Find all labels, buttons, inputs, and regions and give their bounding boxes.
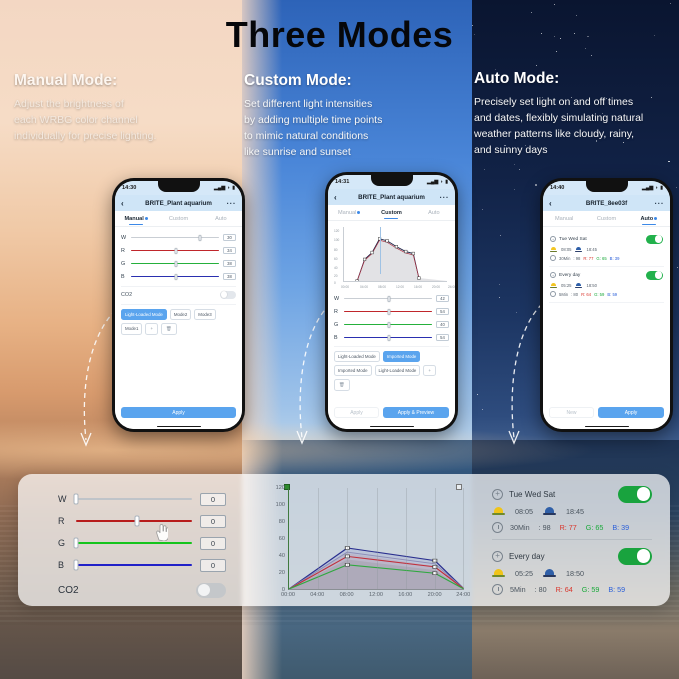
chart-ytick-20: 20 [334,274,338,278]
panel-chart-ytick-100: 100 [276,502,285,508]
tab-active-dot-icon [654,217,657,220]
panel-chart-xtick-0000: 00:00 [281,592,295,598]
slider-value-r[interactable]: 34 [223,247,236,254]
chart-gridlines [289,488,464,589]
panel-slider-thumb-b[interactable] [74,560,79,571]
schedule-off-time-1: 18:45 [586,247,596,252]
chip-light-loaded-mode-2[interactable]: Light-Loaded Mode [375,365,421,376]
manual-mode-line-1: Adjust the brightness of [14,96,214,112]
panel-schedule-off-time-2: 18:50 [566,569,584,578]
plus-circle-icon: + [492,489,503,500]
device-title: BRITE_Plant aquarium [131,200,226,207]
tab-manual-label: Manual [338,210,356,216]
manual-panel: W 30 R 34 G 38 B 38 CO2 [115,227,242,403]
panel-slider-thumb-r[interactable] [135,516,140,527]
sunset-icon [575,247,582,252]
panel-slider-label-b: B [58,560,68,570]
tab-auto-label: Auto [640,216,653,222]
tab-auto-label: Auto [428,210,440,216]
panel-slider-value-r[interactable]: 0 [200,515,226,528]
clock-icon [550,255,556,261]
chart-xtick-0400: 04:00 [360,285,368,289]
home-indicator [328,424,455,429]
chip-light-loaded-mode[interactable]: Light-Loaded Mode [121,309,167,320]
back-icon[interactable]: ‹ [549,199,559,208]
tab-custom[interactable]: Custom [370,205,412,220]
manual-mode-title: Manual Mode: [14,72,214,90]
panel-schedule-g-1: G: 65 [586,523,604,532]
panel-slider-thumb-g[interactable] [74,538,79,549]
chart-xtick-1200: 12:00 [396,285,404,289]
tab-manual[interactable]: Manual [328,205,370,220]
more-horizontal-icon[interactable]: ··· [654,199,664,208]
sunrise-icon [492,507,505,516]
battery-icon: ▮ [232,185,235,191]
tab-custom[interactable]: Custom [157,211,199,226]
panel-schedule-ramp-2: 5Min [510,585,526,594]
slider-label-b: B [334,335,340,341]
notch [158,181,200,192]
custom-mode-description: Custom Mode: Set different light intensi… [244,72,449,160]
slider-track-b[interactable] [131,276,219,278]
panel-schedule-card-2[interactable]: + Every day 05:25 18:50 5Min : 80 R: 64 … [492,539,652,601]
mode-tabs: Manual Custom Auto [543,211,670,227]
panel-slider-thumb-w[interactable] [74,494,79,505]
slider-row-g[interactable]: G 38 [121,257,236,270]
wifi-icon: ◗ [227,185,230,191]
chart-ytick-0: 0 [334,281,336,285]
clock-icon [492,584,503,595]
slider-label-g: G [334,322,340,328]
panel-schedules: + Tue Wed Sat 08:05 18:45 30Min : 98 R: … [470,474,670,606]
auto-mode-line-1: Precisely set light on and off times [474,94,674,110]
slider-value-g[interactable]: 40 [436,321,449,328]
panel-schedule-w-2: : 80 [535,585,547,594]
schedule-w-1: : 98 [573,256,580,261]
plus-circle-icon: + [550,272,556,278]
auto-mode-line-2: and dates, flexibly simulating natural [474,110,674,126]
mode-tabs: Manual Custom Auto [115,211,242,227]
auto-panel: + Tue Wed Sat 08:05 18:45 30Min : 98 R: … [543,227,670,403]
custom-mode-title: Custom Mode: [244,72,449,90]
slider-thumb-w[interactable] [198,235,201,241]
mode-chip-list: Light-Loaded Mode Imported Mode Imported… [334,346,449,391]
detail-panel: W 0 R 0 G 0 B 0 CO2 [18,474,670,606]
chart-plot-area [288,488,464,590]
home-indicator [543,424,670,429]
back-icon[interactable]: ‹ [334,193,344,202]
custom-mode-line-3: to mimic natural conditions [244,128,449,144]
slider-thumb-b[interactable] [174,274,177,280]
sunset-icon [543,569,556,578]
apply-button[interactable]: Apply [334,407,379,418]
slider-row-w[interactable]: W 42 [334,292,449,305]
phone-mockup-auto: 14:40 ▂▄▆ ◗ ▮ ‹ BRITE_8ee03f ··· Manual … [540,178,673,432]
signal-icon: ▂▄▆ [214,185,225,191]
footer-actions: New Apply [543,403,670,424]
apply-button[interactable]: Apply [121,407,236,418]
slider-value-w[interactable]: 42 [436,295,449,302]
schedule-days-1: Tue Wed Sat [559,237,587,242]
tab-auto[interactable]: Auto [628,211,670,226]
mode-tabs: Manual Custom Auto [328,205,455,221]
panel-slider-row-r[interactable]: R 0 [58,510,226,532]
manual-mode-line-3: individually for precise lighting. [14,128,214,144]
slider-value-b[interactable]: 38 [223,273,236,280]
slider-value-g[interactable]: 38 [223,260,236,267]
panel-chart-xtick-2000: 20:00 [428,592,442,598]
panel-slider-value-b[interactable]: 0 [200,559,226,572]
auto-mode-description: Auto Mode: Precisely set light on and of… [474,70,674,158]
slider-thumb-r[interactable] [387,309,390,315]
slider-thumb-r[interactable] [174,248,177,254]
chart-cursor-line[interactable] [380,227,381,274]
slider-label-w: W [334,296,340,302]
panel-schedule-r-2: R: 64 [556,585,573,594]
chart-ytick-120: 120 [334,229,339,233]
panel-slider-value-w[interactable]: 0 [200,493,226,506]
battery-icon: ▮ [445,179,448,185]
add-mode-button[interactable]: + [423,365,436,376]
panel-schedule-b-1: B: 39 [612,523,629,532]
slider-value-r[interactable]: 54 [436,308,449,315]
delete-icon[interactable]: 🗑 [334,379,350,391]
tab-custom-label: Custom [169,216,188,222]
panel-chart-ytick-120: 120 [276,485,285,491]
panel-slider-label-r: R [58,516,68,526]
plus-circle-icon: + [550,236,556,242]
co2-row[interactable]: CO2 [121,286,236,302]
slider-row-g[interactable]: G 40 [334,318,449,331]
chart-ytick-100: 100 [334,238,339,242]
nav-bar: ‹ BRITE_Plant aquarium ··· [328,189,455,205]
device-title: BRITE_8ee03f [559,200,654,207]
notch [586,181,628,192]
panel-chart-xtick-0800: 08:00 [340,592,354,598]
tab-manual[interactable]: Manual [115,211,157,226]
panel-slider-track-b[interactable] [76,564,192,567]
slider-label-r: R [334,309,340,315]
co2-toggle[interactable] [220,291,236,299]
back-icon[interactable]: ‹ [121,199,131,208]
schedule-days-1-wrap: + Tue Wed Sat [550,236,587,242]
panel-sliders: W 0 R 0 G 0 B 0 CO2 [18,474,250,606]
auto-mode-line-4: and sunny days [474,142,674,158]
status-time: 14:40 [550,185,564,191]
panel-slider-row-b[interactable]: B 0 [58,554,226,576]
manual-mode-line-2: each WRBG color channel [14,112,214,128]
wifi-icon: ◗ [655,185,658,191]
page-title: Three Modes [0,14,679,56]
chart-ytick-80: 80 [334,248,338,252]
status-time: 14:30 [122,185,136,191]
slider-row-w[interactable]: W 30 [121,231,236,244]
slider-label-r: R [121,248,127,254]
battery-icon: ▮ [660,185,663,191]
new-button[interactable]: New [549,407,594,418]
panel-slider-track-r[interactable] [76,520,192,523]
phone-mockup-custom: 14:31 ▂▄▆ ◗ ▮ ‹ BRITE_Plant aquarium ···… [325,172,458,432]
notch [371,175,413,186]
schedule-toggle-2[interactable] [646,271,663,280]
delete-icon[interactable]: 🗑 [161,323,177,335]
slider-track-b[interactable] [344,337,432,339]
phone-mockup-manual: 14:30 ▂▄▆ ◗ ▮ ‹ BRITE_Plant aquarium ···… [112,178,245,432]
tab-active-dot-icon [145,217,148,220]
plus-circle-icon: + [492,551,503,562]
mode-chip-list: Light-Loaded Mode Mode2 Mode3 Mode1 + 🗑 [121,304,236,335]
schedule-days-2-wrap: + Every day [550,272,580,278]
slider-row-r[interactable]: R 54 [334,305,449,318]
schedule-b-1: B: 39 [610,256,620,261]
chart-ytick-60: 60 [334,257,338,261]
schedule-days-2: Every day [559,273,580,278]
chip-mode1[interactable]: Mode1 [121,323,142,335]
panel-schedule-toggle-2[interactable] [618,548,652,565]
signal-icon: ▂▄▆ [427,179,438,185]
schedule-b-2: B: 59 [607,292,617,297]
more-horizontal-icon[interactable]: ··· [439,193,449,202]
panel-slider-label-w: W [58,494,68,504]
panel-schedule-toggle-1[interactable] [618,486,652,503]
panel-schedule-w-1: : 98 [539,523,551,532]
footer-actions: Apply Apply & Preview [328,403,455,424]
chart-ytick-40: 40 [334,266,338,270]
schedule-g-1: G: 65 [596,256,606,261]
schedule-g-2: G: 59 [594,292,604,297]
panel-chart-xtick-0400: 04:00 [310,592,324,598]
panel-slider-row-g[interactable]: G 0 [58,532,226,554]
panel-schedule-days-2: Every day [509,552,545,561]
panel-slider-value-g[interactable]: 0 [200,537,226,550]
slider-thumb-w[interactable] [387,296,390,302]
chip-imported-mode-1[interactable]: Imported Mode [383,351,421,362]
panel-schedule-on-time-2: 05:25 [515,569,533,578]
slider-track-g[interactable] [131,263,219,265]
panel-schedule-card-1[interactable]: + Tue Wed Sat 08:05 18:45 30Min : 98 R: … [492,484,652,539]
apply-button[interactable]: Apply [598,407,664,418]
panel-chart-xtick-1200: 12:00 [369,592,383,598]
slider-value-b[interactable]: 54 [436,334,449,341]
tab-manual-label: Manual [125,216,144,222]
custom-mode-line-4: like sunrise and sunset [244,144,449,160]
signal-icon: ▂▄▆ [642,185,653,191]
schedule-w-2: : 80 [571,292,578,297]
tab-custom-label: Custom [597,216,616,222]
slider-row-r[interactable]: R 34 [121,244,236,257]
schedule-r-2: R: 64 [581,292,591,297]
schedule-card-1[interactable]: + Tue Wed Sat 08:05 18:45 30Min : 98 R: … [549,231,664,267]
panel-chart-xtick-1600: 16:00 [398,592,412,598]
wifi-icon: ◗ [440,179,443,185]
chip-light-loaded-mode-1[interactable]: Light-Loaded Mode [334,351,380,362]
status-time: 14:31 [335,179,349,185]
manual-mode-description: Manual Mode: Adjust the brightness of ea… [14,72,214,144]
more-horizontal-icon[interactable]: ··· [226,199,236,208]
slider-row-b[interactable]: B 54 [334,331,449,344]
slider-label-g: G [121,261,127,267]
panel-chart-ytick-80: 80 [279,519,285,525]
device-title: BRITE_Plant aquarium [344,194,439,201]
chip-mode3[interactable]: Mode3 [194,309,215,320]
schedule-r-1: R: 77 [583,256,593,261]
custom-mode-line-1: Set different light intensities [244,96,449,112]
panel-slider-label-g: G [58,538,68,548]
tab-manual[interactable]: Manual [543,211,585,226]
schedule-off-time-2: 18:50 [586,283,596,288]
slider-thumb-g[interactable] [387,322,390,328]
schedule-chart[interactable]: 120 100 80 60 40 20 0 [334,227,449,289]
slider-label-w: W [121,235,127,241]
panel-schedule-g-2: G: 59 [582,585,600,594]
clock-icon [550,291,556,297]
tab-custom-label: Custom [381,210,402,216]
slider-label-b: B [121,274,127,280]
panel-co2-toggle[interactable] [196,583,226,598]
panel-schedule-on-time-1: 08:05 [515,507,533,516]
tab-dot-icon [357,211,360,214]
chart-xtick-0800: 08:00 [378,285,386,289]
clock-icon [492,522,503,533]
panel-schedule-days-1: Tue Wed Sat [509,490,555,499]
tab-manual-label: Manual [555,216,573,222]
schedule-toggle-1[interactable] [646,235,663,244]
nav-bar: ‹ BRITE_8ee03f ··· [543,195,670,211]
slider-track-w[interactable] [344,298,432,300]
custom-mode-line-2: by adding multiple time points [244,112,449,128]
sunrise-icon [492,569,505,578]
panel-slider-track-g[interactable] [76,542,192,545]
slider-thumb-g[interactable] [174,261,177,267]
sunrise-icon [550,283,557,288]
panel-co2-row[interactable]: CO2 [58,578,226,602]
slider-track-w[interactable] [131,237,219,239]
panel-chart[interactable]: 120 100 80 60 40 20 0 00:00 04:00 08:00 … [250,474,470,606]
chart-xtick-0000: 00:00 [341,285,349,289]
schedule-card-2[interactable]: + Every day 05:25 18:50 5Min : 80 R: 64 [549,267,664,303]
custom-panel: 120 100 80 60 40 20 0 [328,221,455,403]
status-bar: 14:31 ▂▄▆ ◗ ▮ [328,175,455,189]
panel-chart-ytick-60: 60 [279,536,285,542]
sunset-icon [575,283,582,288]
chart-xtick-2000: 20:00 [432,285,440,289]
chart-xtick-1600: 16:00 [414,285,422,289]
schedule-on-time-1: 08:05 [561,247,571,252]
slider-value-w[interactable]: 30 [223,234,236,241]
slider-track-r[interactable] [344,311,432,313]
co2-label: CO2 [121,292,132,298]
slider-thumb-b[interactable] [387,335,390,341]
status-bar: 14:30 ▂▄▆ ◗ ▮ [115,181,242,195]
chip-mode2[interactable]: Mode2 [170,309,191,320]
tab-auto[interactable]: Auto [200,211,242,226]
apply-preview-button[interactable]: Apply & Preview [383,407,449,418]
sunrise-icon [550,247,557,252]
schedule-ramp-1: 30Min [559,256,570,261]
schedule-on-time-2: 05:25 [561,283,571,288]
slider-track-r[interactable] [131,250,219,252]
schedule-ramp-2: 5Min [559,292,568,297]
panel-schedule-ramp-1: 30Min [510,523,530,532]
chip-imported-mode-2[interactable]: Imported Mode [334,365,372,376]
panel-chart-xtick-2400: 24:00 [456,592,470,598]
tab-custom[interactable]: Custom [585,211,627,226]
panel-schedule-off-time-1: 18:45 [566,507,584,516]
panel-slider-row-w[interactable]: W 0 [58,488,226,510]
status-bar: 14:40 ▂▄▆ ◗ ▮ [543,181,670,195]
panel-schedule-b-2: B: 59 [608,585,625,594]
auto-mode-title: Auto Mode: [474,70,674,88]
slider-row-b[interactable]: B 38 [121,270,236,283]
sunset-icon [543,507,556,516]
chart-svg [344,227,447,281]
home-indicator [115,424,242,429]
tab-auto-label: Auto [215,216,227,222]
panel-chart-ytick-20: 20 [279,570,285,576]
add-mode-button[interactable]: + [145,323,158,335]
auto-mode-line-3: weather patterns like cloudy, rainy, [474,126,674,142]
panel-slider-track-w[interactable] [76,498,192,501]
panel-chart-ytick-40: 40 [279,553,285,559]
chart-xtick-2400: 24:00 [448,285,455,289]
tab-auto[interactable]: Auto [413,205,455,220]
nav-bar: ‹ BRITE_Plant aquarium ··· [115,195,242,211]
footer-actions: Apply [115,403,242,424]
panel-schedule-r-1: R: 77 [560,523,577,532]
panel-co2-label: CO2 [58,585,79,596]
slider-track-g[interactable] [344,324,432,326]
